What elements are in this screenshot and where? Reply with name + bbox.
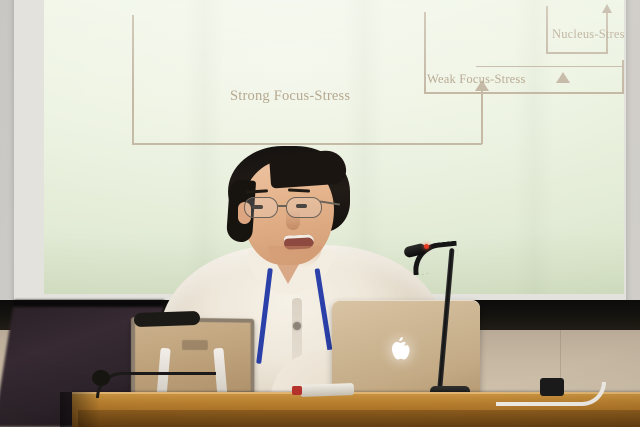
weak-bracket-top-rule [476, 66, 624, 67]
phone-on-desk[interactable] [300, 383, 354, 397]
eyeglasses-icon [242, 197, 338, 219]
desk-dark-object [134, 311, 200, 327]
desk-shadow [60, 392, 100, 427]
microphone-status-led [424, 244, 429, 249]
cable-connector-knob [92, 370, 110, 386]
presentation-photo: [TP [MP σimp [Scope NegDMwhat [ vP [VP V… [0, 0, 640, 427]
shirt-button [293, 322, 301, 330]
nucleus-stress-label: Nucleus-Stress [552, 27, 624, 42]
weak-bracket-left-stem [424, 12, 426, 94]
tablet-logo-icon [182, 340, 208, 350]
strong-bracket-base [132, 143, 482, 145]
strong-focus-stress-label: Strong Focus-Stress [230, 88, 350, 105]
weak-bracket-base [424, 92, 624, 94]
dark-cable [96, 372, 216, 398]
weak-stress-arrow-icon [556, 72, 570, 83]
presenter-hair-fringe [269, 149, 347, 188]
strong-bracket-left-stem [132, 15, 134, 145]
nucleus-bracket-base [546, 52, 608, 54]
cable-plug [540, 378, 564, 396]
red-desk-object [292, 386, 302, 395]
nucleus-stress-arrow-icon [602, 4, 612, 13]
weak-focus-stress-label: Weak Focus-Stress [427, 72, 526, 87]
nucleus-bracket-left-stem [546, 6, 548, 54]
weak-bracket-right-stem [622, 60, 624, 93]
macbook-laptop[interactable] [332, 300, 480, 396]
apple-logo-icon [387, 336, 413, 366]
strong-bracket-right-stem [481, 90, 483, 144]
podium-desk-front [78, 410, 640, 427]
